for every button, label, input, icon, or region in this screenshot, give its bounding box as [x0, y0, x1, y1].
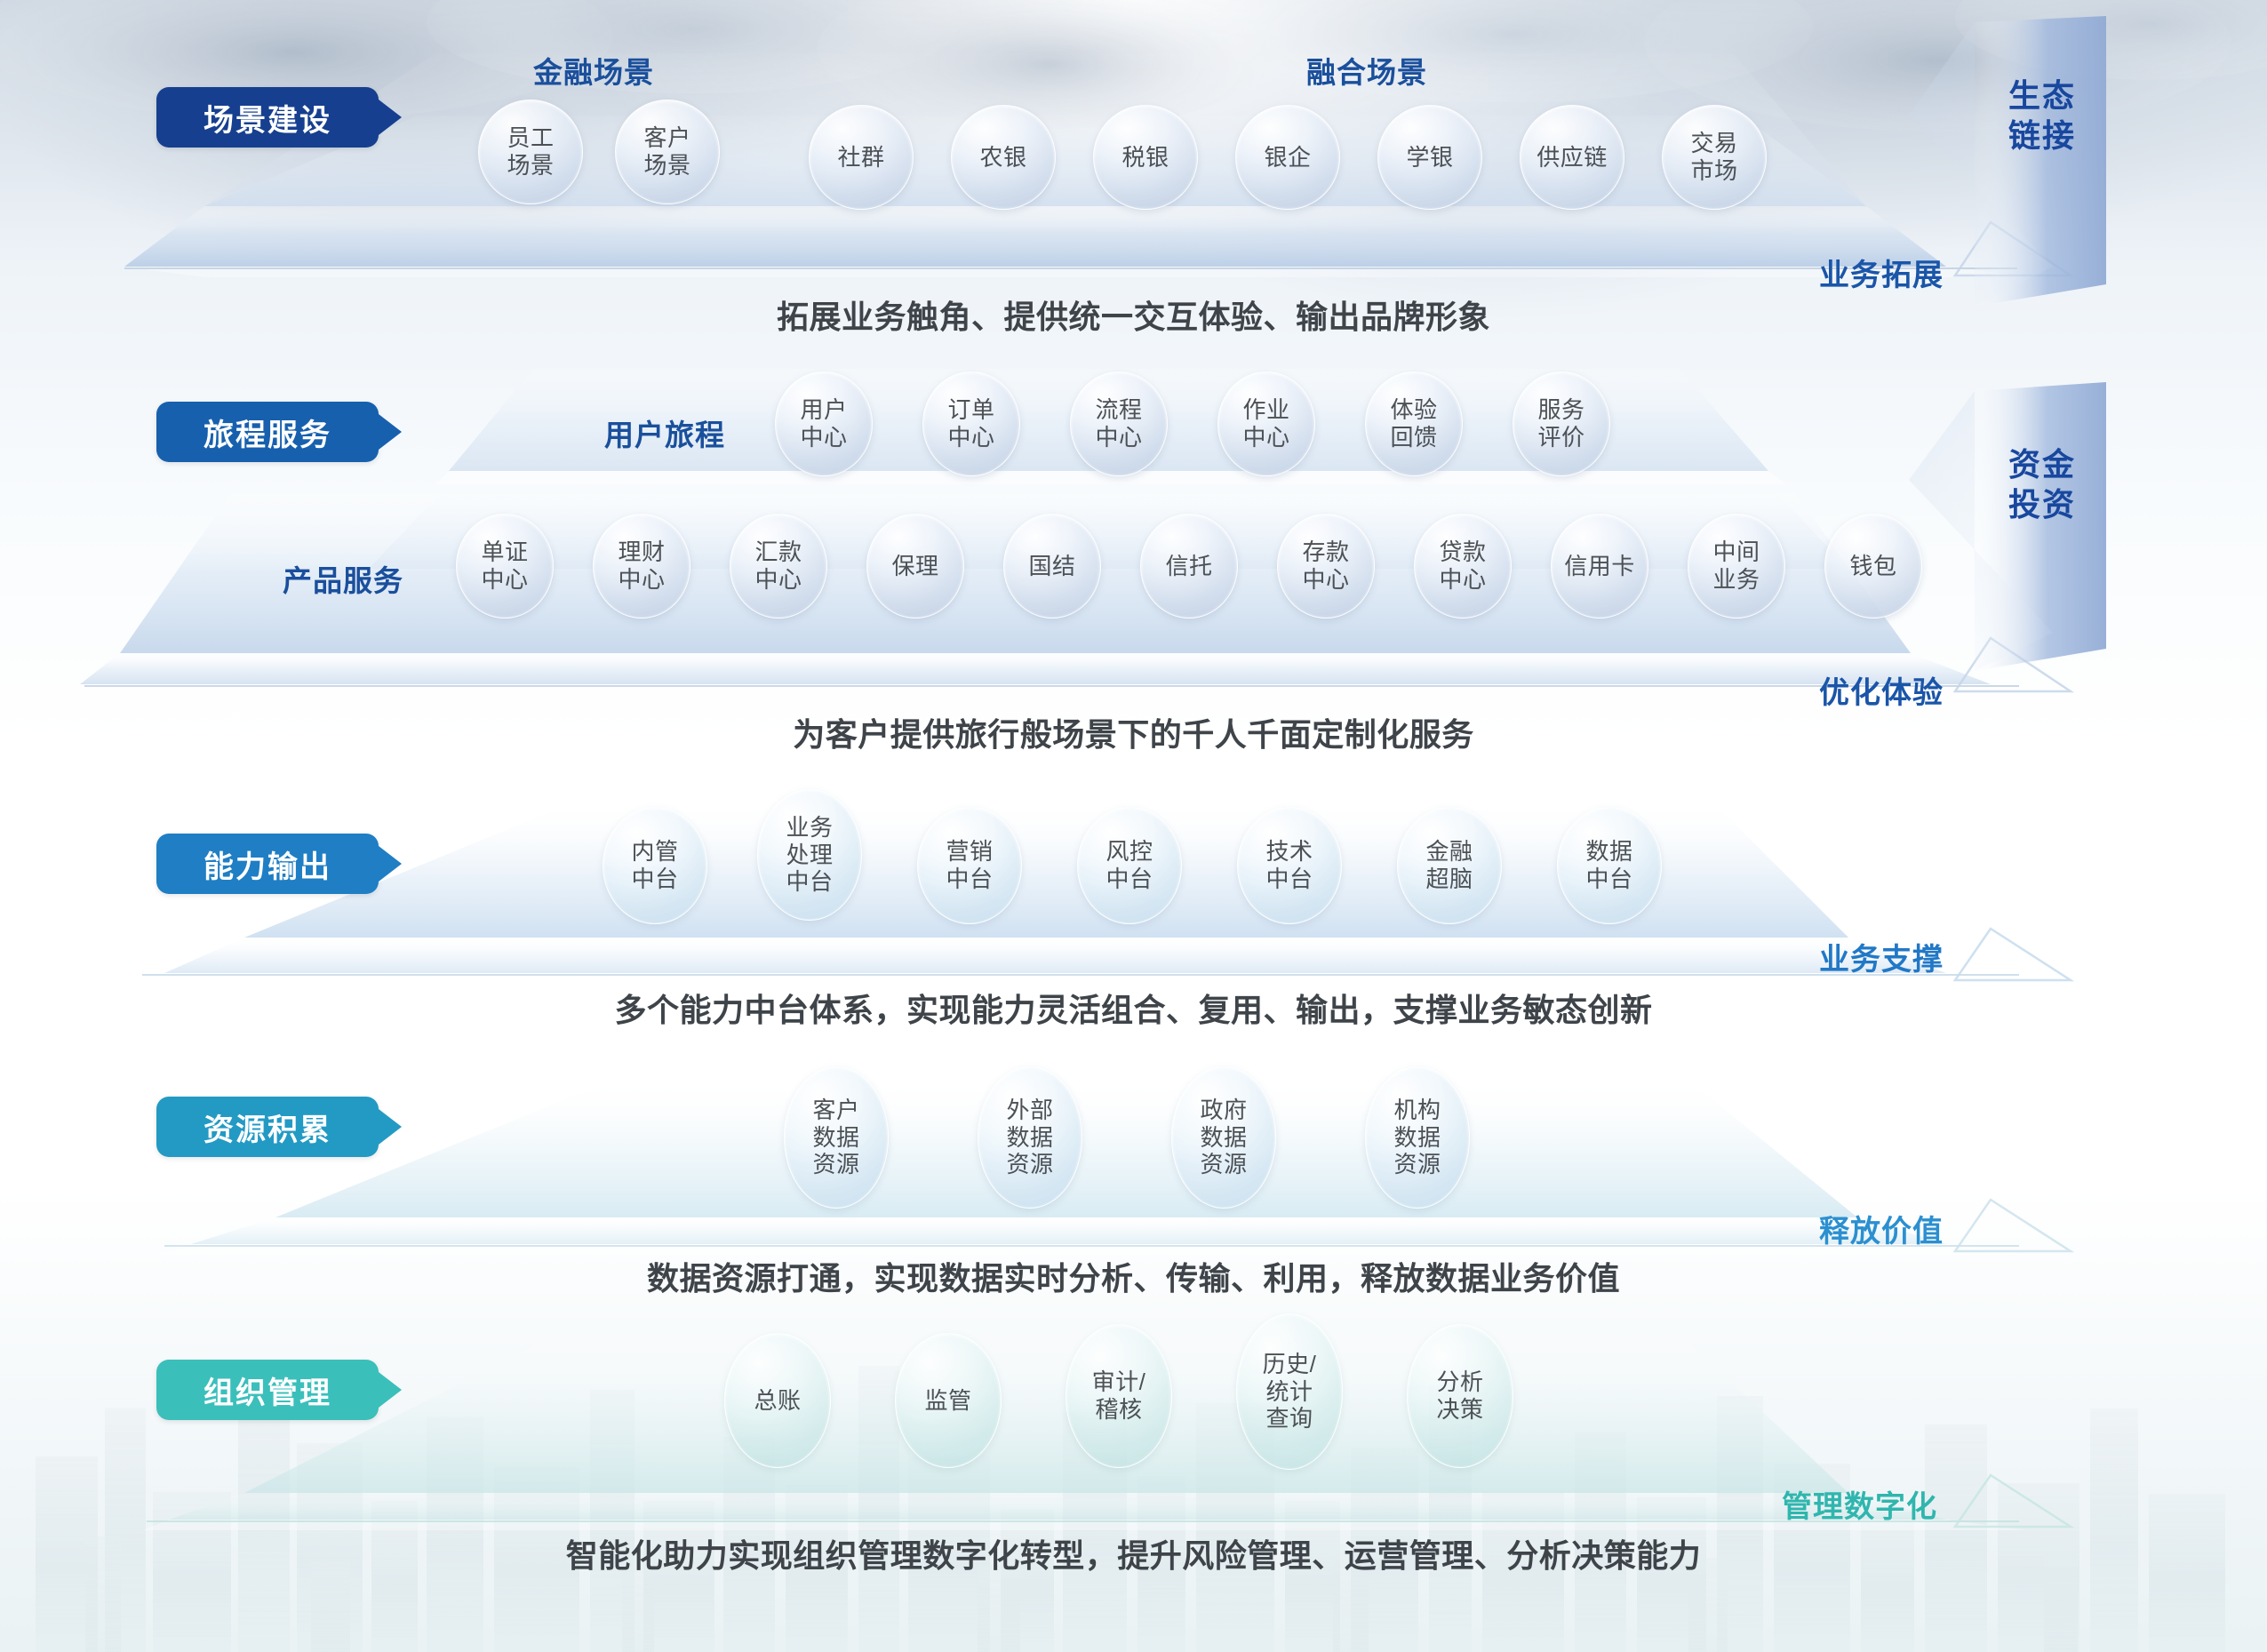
node-journey-4[interactable]: 体验回馈	[1365, 371, 1463, 476]
node-product-7-label: 贷款中心	[1437, 539, 1488, 593]
node-organization-1-label: 监管	[922, 1387, 973, 1415]
node-product-5[interactable]: 信托	[1140, 514, 1238, 619]
node-scene-4[interactable]: 税银	[1093, 105, 1198, 210]
node-journey-0-label: 用户中心	[798, 396, 849, 451]
badge-resource[interactable]: 资源积累	[156, 1097, 379, 1157]
node-scene-3-label: 农银	[978, 144, 1028, 172]
node-product-10[interactable]: 钱包	[1824, 514, 1922, 619]
node-scene-5[interactable]: 银企	[1235, 105, 1340, 210]
node-product-0[interactable]: 单证中心	[456, 514, 554, 619]
badge-organization-label: 组织管理	[204, 1369, 331, 1412]
node-organization-3[interactable]: 历史/统计查询	[1236, 1313, 1343, 1470]
node-journey-0[interactable]: 用户中心	[775, 371, 873, 476]
node-product-2[interactable]: 汇款中心	[730, 514, 827, 619]
badge-capability-label: 能力输出	[204, 842, 331, 886]
node-product-1[interactable]: 理财中心	[593, 514, 690, 619]
badge-scene[interactable]: 场景建设	[156, 87, 379, 148]
node-scene-8-label: 交易市场	[1688, 130, 1739, 184]
node-resource-3[interactable]: 机构数据资源	[1365, 1066, 1470, 1209]
group-title-fusion-scene: 融合场景	[1306, 49, 1427, 92]
node-product-0-label: 单证中心	[479, 539, 530, 593]
node-journey-3-label: 作业中心	[1241, 396, 1291, 451]
node-scene-0-label: 员工场景	[505, 124, 555, 179]
node-product-8-label: 信用卡	[1562, 553, 1637, 580]
node-product-2-label: 汇款中心	[753, 539, 803, 593]
node-capability-4[interactable]: 技术中台	[1237, 807, 1342, 924]
node-scene-4-label: 税银	[1120, 144, 1170, 172]
ribbon-text-ecosystem: 生态链接	[1993, 76, 2091, 156]
node-product-6[interactable]: 存款中心	[1277, 514, 1375, 619]
badge-capability[interactable]: 能力输出	[156, 834, 379, 894]
node-organization-0-label: 总账	[752, 1387, 802, 1415]
caption-journey: 为客户提供旅行般场景下的千人千面定制化服务	[0, 709, 2267, 755]
node-organization-1[interactable]: 监管	[895, 1333, 1002, 1468]
node-capability-0-label: 内管中台	[629, 838, 680, 892]
node-scene-3[interactable]: 农银	[951, 105, 1056, 210]
group-title-financial-scene: 金融场景	[533, 49, 654, 92]
node-resource-2[interactable]: 政府数据资源	[1171, 1066, 1276, 1209]
node-journey-1-label: 订单中心	[946, 396, 996, 451]
badge-scene-label: 场景建设	[204, 96, 331, 140]
node-product-3-label: 保理	[890, 553, 940, 580]
node-scene-7-label: 供应链	[1535, 144, 1609, 172]
node-product-8[interactable]: 信用卡	[1551, 514, 1648, 619]
node-product-1-label: 理财中心	[616, 539, 667, 593]
node-capability-3-label: 风控中台	[1104, 838, 1154, 892]
node-resource-3-label: 机构数据资源	[1392, 1097, 1442, 1178]
node-resource-2-label: 政府数据资源	[1198, 1097, 1249, 1178]
node-journey-5[interactable]: 服务评价	[1513, 371, 1610, 476]
node-organization-4-label: 分析决策	[1434, 1369, 1485, 1423]
badge-journey-label: 旅程服务	[204, 411, 331, 454]
group-title-product-service: 产品服务	[283, 557, 403, 600]
node-scene-6[interactable]: 学银	[1377, 105, 1482, 210]
node-journey-5-label: 服务评价	[1536, 396, 1586, 451]
node-capability-3[interactable]: 风控中台	[1077, 807, 1182, 924]
node-scene-2-label: 社群	[835, 144, 886, 172]
node-scene-5-label: 银企	[1262, 144, 1313, 172]
node-scene-1-label: 客户场景	[642, 124, 692, 179]
node-capability-4-label: 技术中台	[1264, 838, 1314, 892]
node-organization-3-label: 历史/统计查询	[1261, 1351, 1319, 1433]
node-capability-6-label: 数据中台	[1584, 838, 1634, 892]
node-capability-5-label: 金融超脑	[1424, 838, 1474, 892]
node-organization-2-label: 审计/稽核	[1090, 1369, 1148, 1423]
node-resource-0-label: 客户数据资源	[810, 1097, 861, 1178]
node-resource-0[interactable]: 客户数据资源	[784, 1066, 889, 1209]
node-product-6-label: 存款中心	[1300, 539, 1351, 593]
caption-capability: 多个能力中台体系，实现能力灵活组合、复用、输出，支撑业务敏态创新	[0, 985, 2267, 1031]
node-scene-7[interactable]: 供应链	[1520, 105, 1624, 210]
node-product-9-label: 中间业务	[1711, 539, 1761, 593]
edge-label-capability: 业务支撑	[1819, 935, 1944, 978]
node-capability-5[interactable]: 金融超脑	[1397, 807, 1502, 924]
caption-organization: 智能化助力实现组织管理数字化转型，提升风险管理、运营管理、分析决策能力	[0, 1530, 2267, 1576]
edge-label-scene: 业务拓展	[1819, 251, 1944, 294]
edge-label-journey: 优化体验	[1819, 668, 1944, 712]
caption-scene: 拓展业务触角、提供统一交互体验、输出品牌形象	[0, 291, 2267, 338]
node-product-3[interactable]: 保理	[866, 514, 964, 619]
node-journey-1[interactable]: 订单中心	[922, 371, 1020, 476]
node-journey-2[interactable]: 流程中心	[1070, 371, 1168, 476]
node-scene-8[interactable]: 交易市场	[1662, 105, 1767, 210]
node-scene-2[interactable]: 社群	[809, 105, 914, 210]
node-journey-2-label: 流程中心	[1093, 396, 1144, 451]
node-product-5-label: 信托	[1163, 553, 1214, 580]
node-product-7[interactable]: 贷款中心	[1414, 514, 1512, 619]
node-capability-6[interactable]: 数据中台	[1557, 807, 1662, 924]
node-product-4[interactable]: 国结	[1003, 514, 1101, 619]
node-journey-3[interactable]: 作业中心	[1217, 371, 1315, 476]
node-capability-2-label: 营销中台	[944, 838, 994, 892]
node-organization-2[interactable]: 审计/稽核	[1066, 1324, 1172, 1468]
node-product-10-label: 钱包	[1848, 553, 1898, 580]
caption-resource: 数据资源打通，实现数据实时分析、传输、利用，释放数据业务价值	[0, 1253, 2267, 1299]
node-resource-1-label: 外部数据资源	[1004, 1097, 1055, 1178]
node-capability-2[interactable]: 营销中台	[917, 807, 1022, 924]
node-capability-1-label: 业务处理中台	[784, 814, 834, 896]
badge-organization[interactable]: 组织管理	[156, 1360, 379, 1420]
ribbon-text-investment: 资金投资	[1993, 444, 2091, 524]
edge-label-resource: 释放价值	[1819, 1207, 1944, 1250]
node-product-9[interactable]: 中间业务	[1688, 514, 1785, 619]
badge-resource-label: 资源积累	[204, 1105, 331, 1149]
node-product-4-label: 国结	[1026, 553, 1077, 580]
node-journey-4-label: 体验回馈	[1388, 396, 1439, 451]
node-resource-1[interactable]: 外部数据资源	[978, 1066, 1082, 1209]
node-scene-6-label: 学银	[1404, 144, 1455, 172]
node-scene-0[interactable]: 员工场景	[478, 100, 583, 204]
node-capability-1[interactable]: 业务处理中台	[757, 789, 862, 921]
badge-journey[interactable]: 旅程服务	[156, 402, 379, 462]
node-scene-1[interactable]: 客户场景	[615, 100, 720, 204]
group-title-user-journey: 用户旅程	[604, 411, 725, 454]
edge-label-organization: 管理数字化	[1782, 1482, 1937, 1526]
node-organization-4[interactable]: 分析决策	[1407, 1324, 1513, 1468]
node-organization-0[interactable]: 总账	[724, 1333, 831, 1468]
node-capability-0[interactable]: 内管中台	[603, 807, 707, 924]
